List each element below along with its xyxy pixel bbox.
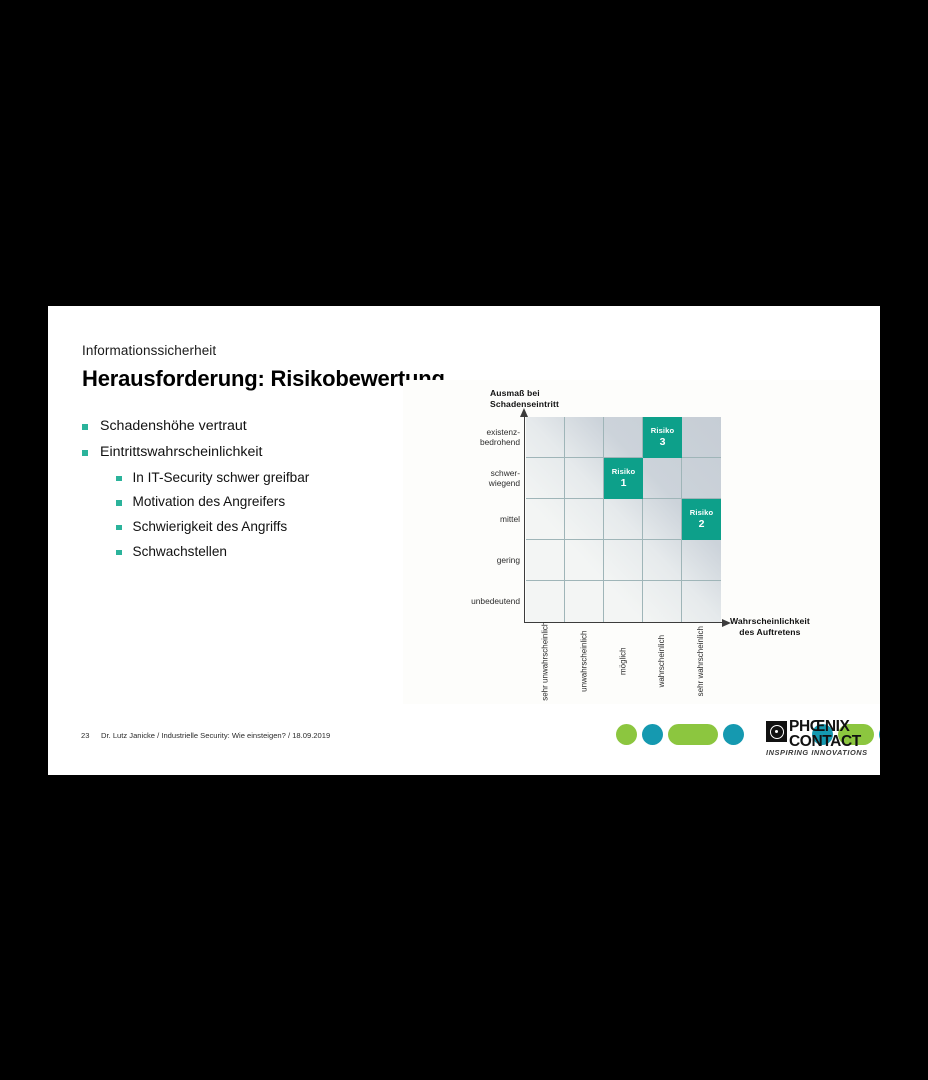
matrix-cell	[643, 499, 682, 540]
x-axis-tick-label: sehr unwahrscheinlich	[540, 622, 550, 701]
matrix-cell	[565, 581, 604, 622]
x-axis-tick-label: wahrscheinlich	[657, 635, 667, 687]
matrix-cell	[604, 540, 643, 581]
matrix-cell	[526, 540, 565, 581]
risk-marker-cell: Risiko3	[643, 417, 682, 458]
x-axis-tick: unwahrscheinlich	[565, 626, 604, 704]
x-axis-tick-label: möglich	[618, 647, 628, 675]
y-axis-tick: gering	[456, 555, 520, 566]
matrix-cell	[643, 458, 682, 499]
y-axis-tick-line2: wiegend	[489, 478, 520, 488]
y-axis-tick: mittel	[456, 514, 520, 525]
bullet-square-icon	[82, 424, 88, 430]
x-axis-title-line2: des Auftretens	[739, 627, 800, 637]
bullet-list: Schadenshöhe vertrautEintrittswahrschein…	[82, 418, 412, 568]
bullet-square-icon	[116, 550, 122, 556]
bullet-item-label: Eintrittswahrscheinlichkeit	[100, 444, 262, 460]
risk-marker-number: 3	[660, 436, 666, 448]
matrix-cell	[565, 499, 604, 540]
y-axis-tick: existenz-bedrohend	[456, 427, 520, 449]
x-axis-tick-label: sehr wahrscheinlich	[696, 626, 706, 696]
bullet-item-label: In IT-Security schwer greifbar	[133, 470, 310, 486]
matrix-cell	[526, 499, 565, 540]
phoenix-contact-mark-icon	[766, 721, 787, 742]
matrix-cell	[604, 581, 643, 622]
bullet-item: Eintrittswahrscheinlichkeit	[82, 444, 412, 460]
bullet-item: In IT-Security schwer greifbar	[116, 470, 412, 486]
x-axis-line	[524, 622, 723, 623]
logo-pill-teal-2	[723, 724, 744, 745]
bullet-item-label: Motivation des Angreifers	[133, 494, 286, 510]
matrix-cell	[643, 581, 682, 622]
x-axis-tick-labels: sehr unwahrscheinlichunwahrscheinlichmög…	[526, 626, 721, 704]
bullet-item-label: Schwachstellen	[133, 544, 227, 560]
risk-marker-label: Risiko	[651, 427, 674, 435]
bullet-item-label: Schwierigkeit des Angriffs	[133, 519, 288, 535]
bullet-square-icon	[116, 476, 122, 482]
bullet-square-icon	[116, 500, 122, 506]
logo-tagline: INSPIRING INNOVATIONS	[766, 748, 868, 757]
risk-matrix-grid: Risiko3Risiko1Risiko2	[526, 417, 721, 622]
x-axis-tick: wahrscheinlich	[643, 626, 682, 704]
x-axis-arrow-icon	[722, 619, 731, 627]
matrix-cell	[604, 499, 643, 540]
logo-pill-teal-4	[879, 724, 880, 745]
matrix-cell	[682, 581, 721, 622]
matrix-cell	[526, 458, 565, 499]
matrix-cell	[526, 581, 565, 622]
logo-pill-green-2	[668, 724, 718, 745]
y-axis-tick-labels: existenz-bedrohendschwer-wiegendmittelge…	[452, 417, 520, 622]
phoenix-contact-logo: PHŒNIX CONTACT INSPIRING INNOVATIONS	[616, 720, 880, 762]
x-axis-tick: sehr unwahrscheinlich	[526, 626, 565, 704]
x-axis-tick: möglich	[604, 626, 643, 704]
presentation-slide: Informationssicherheit Herausforderung: …	[48, 306, 880, 775]
y-axis-tick-line1: unbedeutend	[471, 596, 520, 606]
bullet-square-icon	[116, 525, 122, 531]
bullet-item: Schadenshöhe vertraut	[82, 418, 412, 434]
risk-marker-number: 1	[621, 477, 627, 489]
footer-page-number: 23	[81, 731, 89, 740]
x-axis-tick-label: unwahrscheinlich	[579, 631, 589, 692]
slide-title: Herausforderung: Risikobewertung	[82, 366, 445, 392]
matrix-cell	[565, 540, 604, 581]
y-axis-tick-line1: gering	[497, 555, 520, 565]
bullet-item: Motivation des Angreifers	[116, 494, 412, 510]
x-axis-title-line1: Wahrscheinlichkeit	[730, 616, 810, 626]
matrix-cell	[682, 458, 721, 499]
y-axis-tick-line2: bedrohend	[480, 437, 520, 447]
y-axis-arrow-icon	[520, 408, 528, 417]
slide-eyebrow: Informationssicherheit	[82, 343, 216, 358]
y-axis-tick: unbedeutend	[456, 596, 520, 607]
matrix-cell	[682, 540, 721, 581]
y-axis-tick-line1: existenz-	[486, 427, 520, 437]
logo-pill-green-1	[616, 724, 637, 745]
matrix-cell	[643, 540, 682, 581]
logo-pill-teal-1	[642, 724, 663, 745]
footer-text: Dr. Lutz Janicke / Industrielle Security…	[101, 731, 330, 740]
logo-wordmark: PHŒNIX CONTACT	[789, 720, 861, 750]
bullet-item-label: Schadenshöhe vertraut	[100, 418, 247, 434]
x-axis-tick: sehr wahrscheinlich	[682, 626, 721, 704]
risk-marker-label: Risiko	[612, 468, 635, 476]
y-axis-tick-line1: mittel	[500, 514, 520, 524]
y-axis-title-line1: Ausmaß bei	[490, 388, 540, 398]
matrix-cell	[565, 458, 604, 499]
matrix-cell	[682, 417, 721, 458]
logo-ring-icon	[770, 725, 784, 739]
matrix-cell	[565, 417, 604, 458]
logo-dot-icon	[775, 730, 779, 734]
bullet-item: Schwachstellen	[116, 544, 412, 560]
risk-marker-cell: Risiko2	[682, 499, 721, 540]
risk-marker-number: 2	[699, 518, 705, 530]
x-axis-title: Wahrscheinlichkeit des Auftretens	[730, 616, 810, 639]
risk-marker-cell: Risiko1	[604, 458, 643, 499]
matrix-cell	[526, 417, 565, 458]
matrix-cell	[604, 417, 643, 458]
y-axis-tick: schwer-wiegend	[456, 468, 520, 490]
y-axis-tick-line1: schwer-	[491, 468, 520, 478]
bullet-square-icon	[82, 450, 88, 456]
risk-marker-label: Risiko	[690, 509, 713, 517]
bullet-item: Schwierigkeit des Angriffs	[116, 519, 412, 535]
